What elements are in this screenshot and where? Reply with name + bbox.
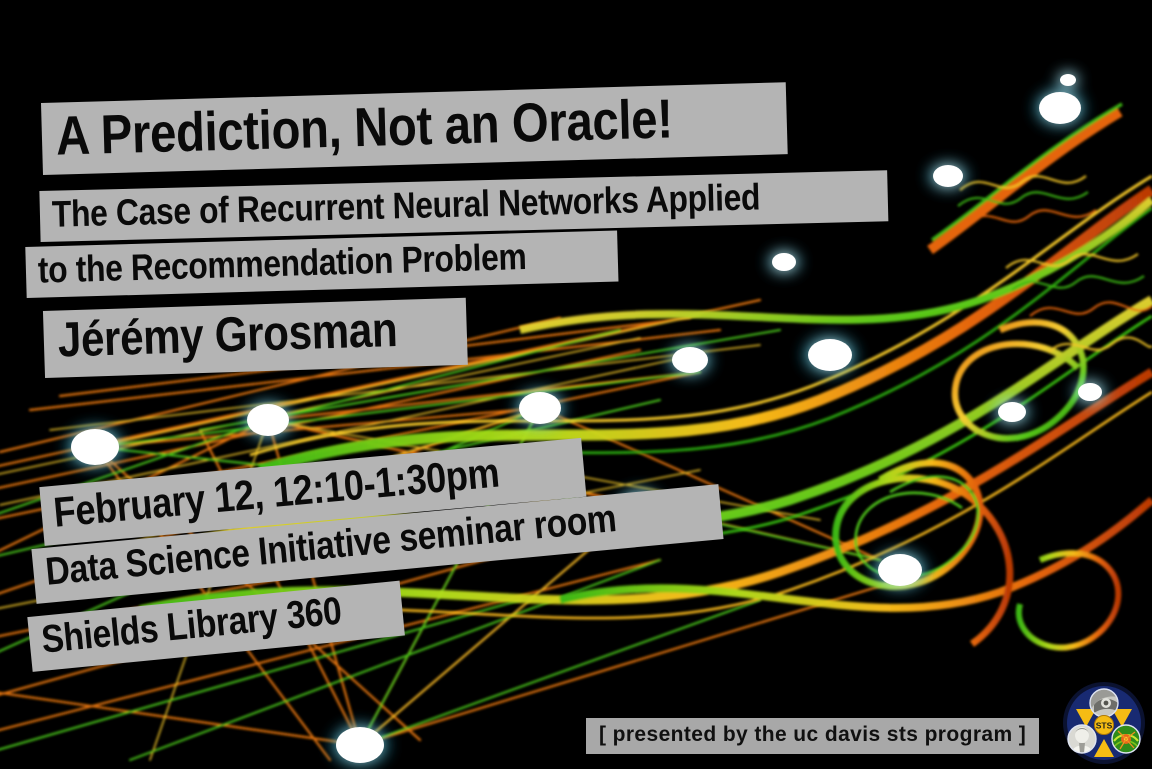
title-text: A Prediction, Not an Oracle!	[55, 91, 673, 163]
seminar-poster: A Prediction, Not an Oracle! The Case of…	[0, 0, 1152, 769]
speaker-text: Jérémy Grosman	[57, 306, 398, 366]
speaker-name: Jérémy Grosman	[43, 298, 468, 378]
subtitle-text-2: to the Recommendation Problem	[37, 238, 526, 289]
uc-davis-sts-logo-icon: STS	[1062, 681, 1146, 765]
presenter-credit: [ presented by the uc davis sts program …	[586, 718, 1039, 754]
logo-center-label: STS	[1096, 721, 1113, 731]
